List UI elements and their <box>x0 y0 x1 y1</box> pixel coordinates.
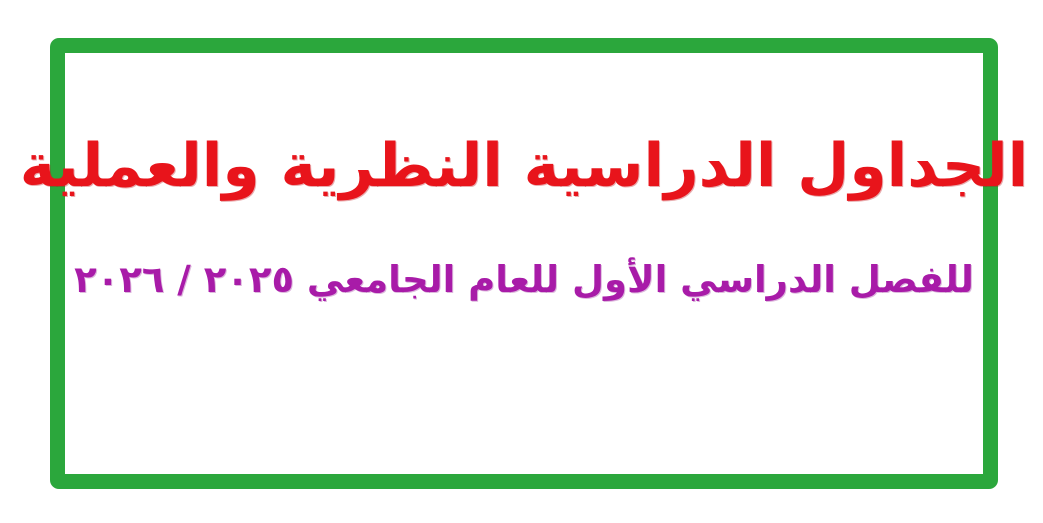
announcement-content: الجداول الدراسية النظرية والعملية للفصل … <box>65 53 983 474</box>
page-title: الجداول الدراسية النظرية والعملية <box>10 131 1038 202</box>
empty-content-area <box>65 302 983 474</box>
page-subtitle: للفصل الدراسي الأول للعام الجامعي ٢٠٢٥ /… <box>64 258 984 302</box>
poster-canvas: الجداول الدراسية النظرية والعملية للفصل … <box>0 0 1043 523</box>
announcement-panel: الجداول الدراسية النظرية والعملية للفصل … <box>50 38 998 489</box>
